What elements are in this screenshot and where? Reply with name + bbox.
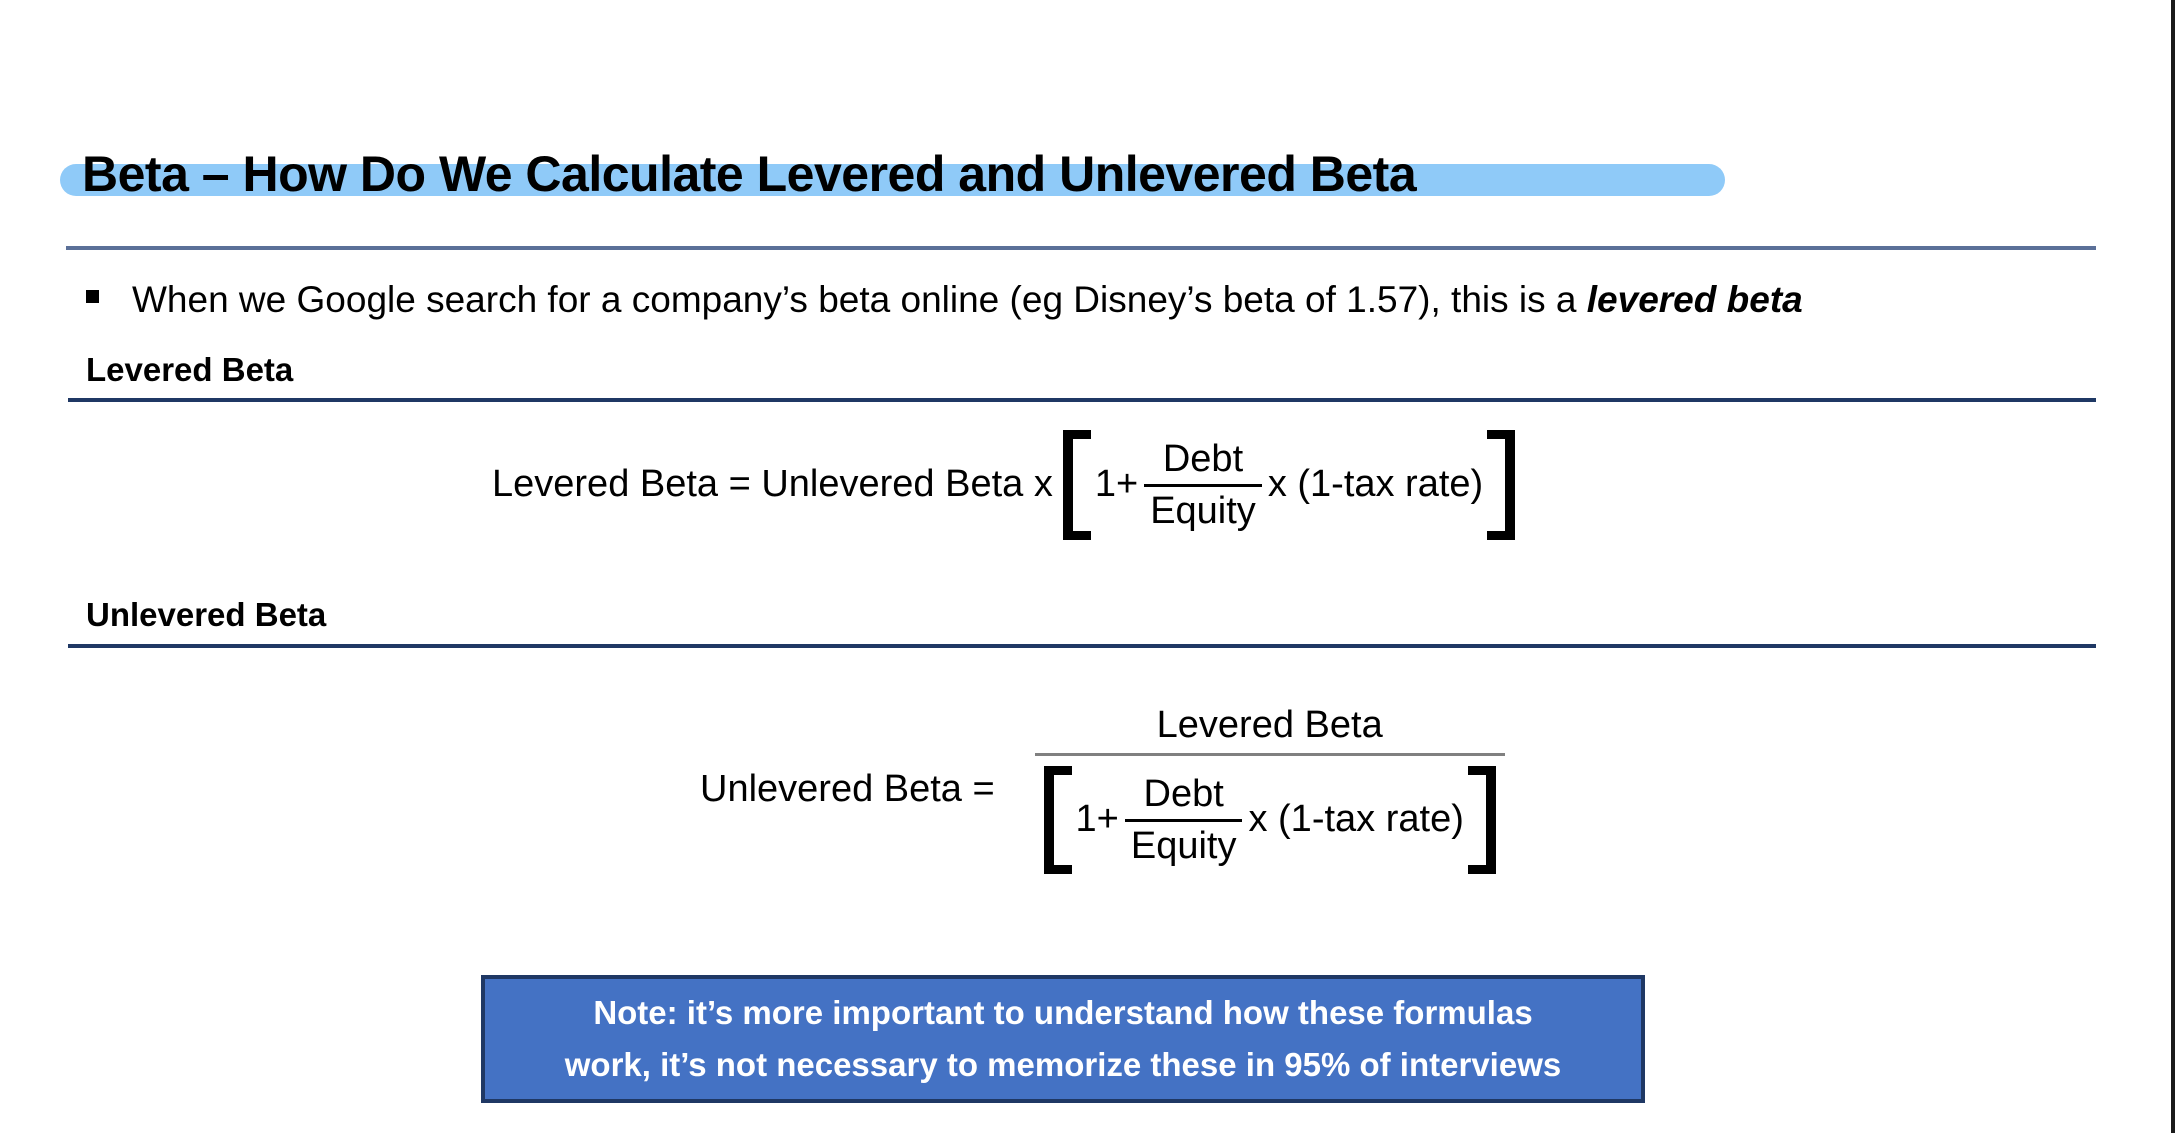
title-text: Beta – How Do We Calculate Levered and U… [60, 140, 1416, 208]
formula2-tail: x (1-tax rate) [1248, 800, 1463, 840]
formula2-denominator: 1+ Debt Equity x (1-tax rate) [1044, 756, 1496, 874]
bracket-close-icon [1468, 766, 1496, 874]
formula1-one-plus: 1+ [1095, 465, 1138, 505]
formula2-numerator: Levered Beta [1147, 706, 1393, 754]
section-heading-levered-beta: Levered Beta [86, 350, 293, 390]
bullet-text: When we Google search for a company’s be… [132, 275, 1803, 325]
formula2-inner-denominator: Equity [1125, 825, 1243, 868]
bracket-close-icon [1487, 430, 1515, 540]
bullet-text-emphasis: levered beta [1587, 279, 1803, 320]
title-divider-rule [66, 246, 2096, 250]
formula1-numerator: Debt [1157, 438, 1249, 481]
bracket-open-icon [1044, 766, 1072, 874]
formula2-main-fraction: Levered Beta 1+ Debt Equity x (1-tax rat… [1035, 706, 1505, 875]
formula2-inner-fraction-bar [1125, 819, 1243, 822]
formula-levered-beta: Levered Beta = Unlevered Beta x 1+ Debt … [492, 430, 1515, 540]
note-line-2: work, it’s not necessary to memorize the… [565, 1039, 1561, 1091]
formula1-denominator: Equity [1144, 490, 1262, 533]
square-bullet-icon [86, 290, 99, 303]
formula2-inner-numerator: Debt [1138, 773, 1230, 816]
section-rule-levered-beta [68, 398, 2096, 402]
formula-unlevered-beta: Unlevered Beta = Levered Beta 1+ Debt Eq… [700, 680, 1505, 900]
formula1-fraction-bar [1144, 484, 1262, 487]
section-rule-unlevered-beta [68, 644, 2096, 648]
formula2-inner-fraction: Debt Equity [1125, 773, 1243, 867]
section-heading-unlevered-beta: Unlevered Beta [86, 595, 326, 635]
formula1-tail: x (1-tax rate) [1268, 465, 1483, 505]
bracket-open-icon [1063, 430, 1091, 540]
slide-canvas: Beta – How Do We Calculate Levered and U… [0, 0, 2178, 1133]
bullet-item: When we Google search for a company’s be… [86, 275, 2096, 325]
formula1-lhs: Levered Beta = Unlevered Beta x [492, 465, 1053, 505]
note-line-1: Note: it’s more important to understand … [593, 987, 1532, 1039]
note-callout-box: Note: it’s more important to understand … [481, 975, 1645, 1103]
formula1-fraction: Debt Equity [1144, 438, 1262, 532]
page-title: Beta – How Do We Calculate Levered and U… [60, 140, 1416, 208]
formula2-one-plus: 1+ [1076, 800, 1119, 840]
formula2-lhs: Unlevered Beta = [700, 770, 995, 810]
bullet-text-plain: When we Google search for a company’s be… [132, 279, 1587, 320]
slide-right-edge-rule [2171, 0, 2175, 1133]
